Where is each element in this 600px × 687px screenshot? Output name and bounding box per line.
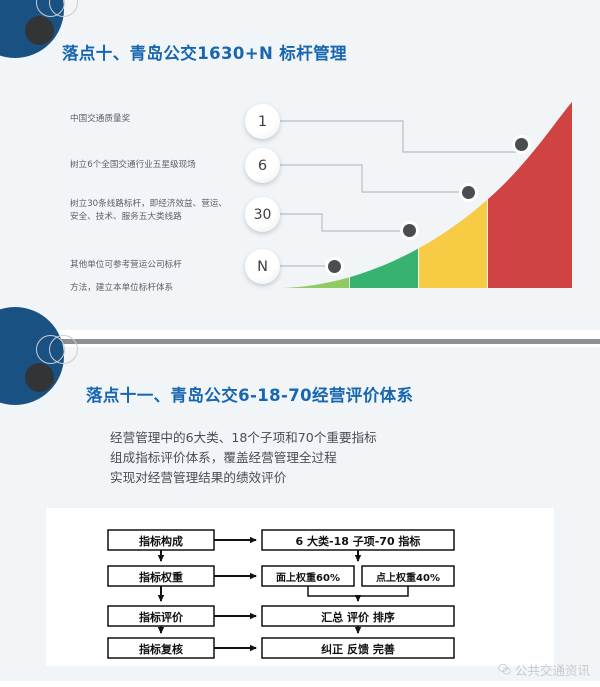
flow-label-weight-2: 点上权重40%	[376, 571, 440, 584]
chart-bubble-1: 1	[245, 104, 280, 139]
callout-label-2-line1: 树立6个全国交通行业五星级现场	[70, 160, 196, 170]
slide2-body-line-2: 组成指标评价体系，覆盖经营管理全过程	[110, 448, 377, 468]
flow-label-right-2: 汇总 评价 排序	[321, 610, 395, 624]
slide2-body-line-1: 经营管理中的6大类、18个子项和70个重要指标	[110, 428, 377, 448]
callout-label-1-line1: 中国交通质量奖	[70, 114, 130, 124]
flow-label-right-3: 纠正 反馈 完善	[321, 642, 395, 656]
chart-connector-lines	[240, 96, 585, 296]
slide1-title: 落点十、青岛公交1630+N 标杆管理	[62, 40, 347, 64]
benchmark-growth-chart: 1 6 30 N	[240, 96, 585, 296]
chart-point-30	[403, 224, 416, 237]
watermark: 公共交通资讯	[498, 660, 590, 679]
chart-bubble-n: N	[245, 249, 280, 284]
callout-label-3-line2: 安全、技术、服务五大类线路	[70, 211, 250, 224]
slide-deck: 落点十、青岛公交1630+N 标杆管理 中国交通质量奖 树立6个全国交通行业五星…	[0, 0, 600, 687]
chart-point-6	[462, 186, 475, 199]
bottom-edge	[0, 681, 600, 687]
connector-line-1	[280, 121, 521, 152]
flowchart: 指标构成 指标权重 指标评价 指标复核 6 大类-18 子项-70 指标 面上权…	[46, 508, 554, 666]
flow-label-weight-1: 面上权重60%	[276, 571, 340, 584]
wechat-icon	[498, 663, 511, 676]
chart-bubble-6: 6	[245, 148, 280, 183]
outline-circle-icon-2	[49, 0, 78, 17]
callout-label-4: 其他单位可参考营运公司标杆 方法，建立本单位标杆体系	[70, 259, 250, 295]
chart-bubble-30: 30	[245, 197, 280, 232]
slide2-body: 经营管理中的6大类、18个子项和70个重要指标 组成指标评价体系，覆盖经营管理全…	[110, 428, 377, 488]
connector-line-30	[280, 214, 409, 231]
chart-point-1	[515, 138, 528, 151]
connector-line-6	[280, 165, 468, 192]
slide2-title: 落点十一、青岛公交6-18-70经营评价体系	[86, 382, 413, 406]
flow-label-left-2: 指标权重	[139, 570, 183, 584]
dark-circle-accent	[25, 16, 54, 45]
flowchart-card: 指标构成 指标权重 指标评价 指标复核 6 大类-18 子项-70 指标 面上权…	[46, 508, 554, 666]
callout-label-4-line1: 其他单位可参考营运公司标杆	[70, 260, 182, 270]
callout-label-3-line1: 树立30条线路标杆，即经济效益、营运、	[70, 199, 227, 209]
blue-quarter-circle	[0, 0, 64, 58]
flow-label-left-3: 指标评价	[139, 610, 184, 624]
flow-label-left-1: 指标构成	[139, 534, 183, 548]
chart-point-n	[328, 260, 341, 273]
callout-label-2: 树立6个全国交通行业五星级现场	[70, 159, 250, 172]
callout-label-1: 中国交通质量奖	[70, 113, 250, 126]
watermark-text: 公共交通资讯	[515, 660, 590, 679]
outline-circle-icon	[36, 0, 65, 17]
slide-benchmark-management: 落点十、青岛公交1630+N 标杆管理 中国交通质量奖 树立6个全国交通行业五星…	[0, 0, 600, 330]
slide-divider	[0, 339, 600, 344]
callout-label-3: 树立30条线路标杆，即经济效益、营运、 安全、技术、服务五大类线路	[70, 198, 250, 224]
flow-label-right-1: 6 大类-18 子项-70 指标	[296, 534, 421, 548]
slide2-body-line-3: 实现对经营管理结果的绩效评价	[110, 468, 377, 488]
flow-merge-bracket	[308, 586, 408, 596]
flow-label-left-4: 指标复核	[139, 642, 183, 656]
callout-label-4-line2: 方法，建立本单位标杆体系	[70, 282, 250, 295]
